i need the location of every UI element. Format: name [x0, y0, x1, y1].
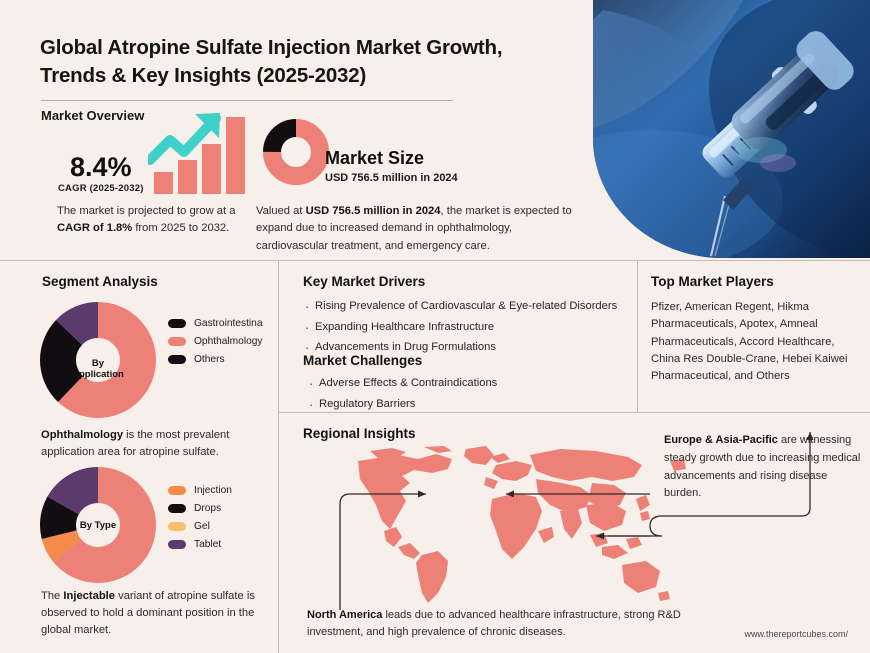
list-item-label: Rising Prevalence of Cardiovascular & Ey… [315, 298, 617, 316]
segment-analysis-heading: Segment Analysis [42, 274, 158, 289]
legend-swatch-icon [168, 486, 186, 495]
cagr-caption: CAGR (2025-2032) [58, 183, 144, 194]
by-application-legend: Gastrointestina Ophthalmology Others [168, 318, 263, 372]
legend-item: Others [168, 354, 263, 365]
list-item: · Regulatory Barriers [309, 396, 634, 414]
list-item: · Rising Prevalence of Cardiovascular & … [305, 298, 635, 316]
market-challenges-heading: Market Challenges [303, 353, 422, 368]
market-size-description: Valued at USD 756.5 million in 2024, the… [256, 203, 578, 255]
europe-asia-callout: Europe & Asia-Pacific are witnessing ste… [664, 432, 862, 503]
bar-growth-arrow-icon [148, 112, 256, 194]
application-caption-bold: Ophthalmology [41, 429, 123, 441]
market-challenges-list: · Adverse Effects & Contraindications · … [309, 375, 634, 416]
legend-label: Gastrointestina [194, 318, 263, 329]
by-type-center-label: By Type [38, 520, 158, 531]
title-line-1: Global Atropine Sulfate Injection Market… [40, 36, 502, 59]
legend-item: Tablet [168, 539, 232, 550]
by-application-center-line1: By [92, 358, 104, 369]
legend-swatch-icon [168, 540, 186, 549]
infographic-page: Global Atropine Sulfate Injection Market… [0, 0, 870, 653]
europe-callout-bold: Europe & Asia-Pacific [664, 434, 778, 446]
mo-desc-bold: CAGR of 1.8% [57, 222, 132, 234]
market-size-donut-chart [262, 118, 330, 186]
legend-item: Injection [168, 485, 232, 496]
bullet-icon: · [309, 396, 319, 414]
bullet-icon: · [305, 298, 315, 316]
ms-desc-bold: USD 756.5 million in 2024 [306, 205, 441, 217]
list-item: · Adverse Effects & Contraindications [309, 375, 634, 393]
north-america-callout-bold: North America [307, 609, 382, 621]
market-size-subtitle: USD 756.5 million in 2024 [325, 172, 458, 184]
top-market-players-heading: Top Market Players [651, 274, 774, 289]
legend-label: Ophthalmology [194, 336, 263, 347]
by-application-center-label: By Application [38, 358, 158, 380]
source-url[interactable]: www.thereportcubes.com/ [744, 629, 848, 639]
section-divider-horizontal [0, 260, 870, 261]
by-application-center-line2: Application [72, 369, 124, 380]
legend-swatch-icon [168, 319, 186, 328]
legend-item: Drops [168, 503, 232, 514]
page-title: Global Atropine Sulfate Injection Market… [40, 34, 560, 89]
syringe-photo [593, 0, 870, 258]
legend-label: Injection [194, 485, 232, 496]
title-divider [41, 100, 453, 101]
list-item-label: Adverse Effects & Contraindications [319, 375, 497, 393]
legend-label: Others [194, 354, 225, 365]
type-caption-bold: Injectable [63, 590, 115, 602]
application-caption: Ophthalmology is the most prevalent appl… [41, 427, 263, 461]
list-item: · Expanding Healthcare Infrastructure [305, 319, 635, 337]
legend-item: Ophthalmology [168, 336, 263, 347]
section-divider-vertical-right [637, 261, 638, 412]
market-size-title: Market Size [325, 148, 424, 169]
legend-swatch-icon [168, 337, 186, 346]
legend-label: Tablet [194, 539, 221, 550]
market-overview-heading: Market Overview [41, 108, 144, 123]
cagr-value: 8.4% [70, 152, 132, 183]
mo-desc-pre: The market is projected to grow at a [57, 205, 235, 217]
type-caption-pre: The [41, 590, 63, 602]
list-item-label: Expanding Healthcare Infrastructure [315, 319, 494, 337]
legend-item: Gastrointestina [168, 318, 263, 329]
north-america-callout: North America leads due to advanced heal… [307, 607, 687, 641]
legend-swatch-icon [168, 522, 186, 531]
key-market-drivers-list: · Rising Prevalence of Cardiovascular & … [305, 298, 635, 360]
top-market-players-text: Pfizer, American Regent, Hikma Pharmaceu… [651, 299, 856, 386]
bullet-icon: · [309, 375, 319, 393]
legend-swatch-icon [168, 504, 186, 513]
market-overview-description: The market is projected to grow at a CAG… [57, 203, 267, 238]
mo-desc-post: from 2025 to 2032. [132, 222, 229, 234]
legend-swatch-icon [168, 355, 186, 364]
legend-label: Gel [194, 521, 210, 532]
title-line-2: Trends & Key Insights (2025-2032) [40, 64, 366, 87]
type-caption: The Injectable variant of atropine sulfa… [41, 588, 269, 638]
list-item-label: Regulatory Barriers [319, 396, 415, 414]
legend-item: Gel [168, 521, 232, 532]
key-market-drivers-heading: Key Market Drivers [303, 274, 425, 289]
legend-label: Drops [194, 503, 221, 514]
bullet-icon: · [305, 319, 315, 337]
ms-desc-pre: Valued at [256, 205, 306, 217]
by-type-legend: Injection Drops Gel Tablet [168, 485, 232, 557]
